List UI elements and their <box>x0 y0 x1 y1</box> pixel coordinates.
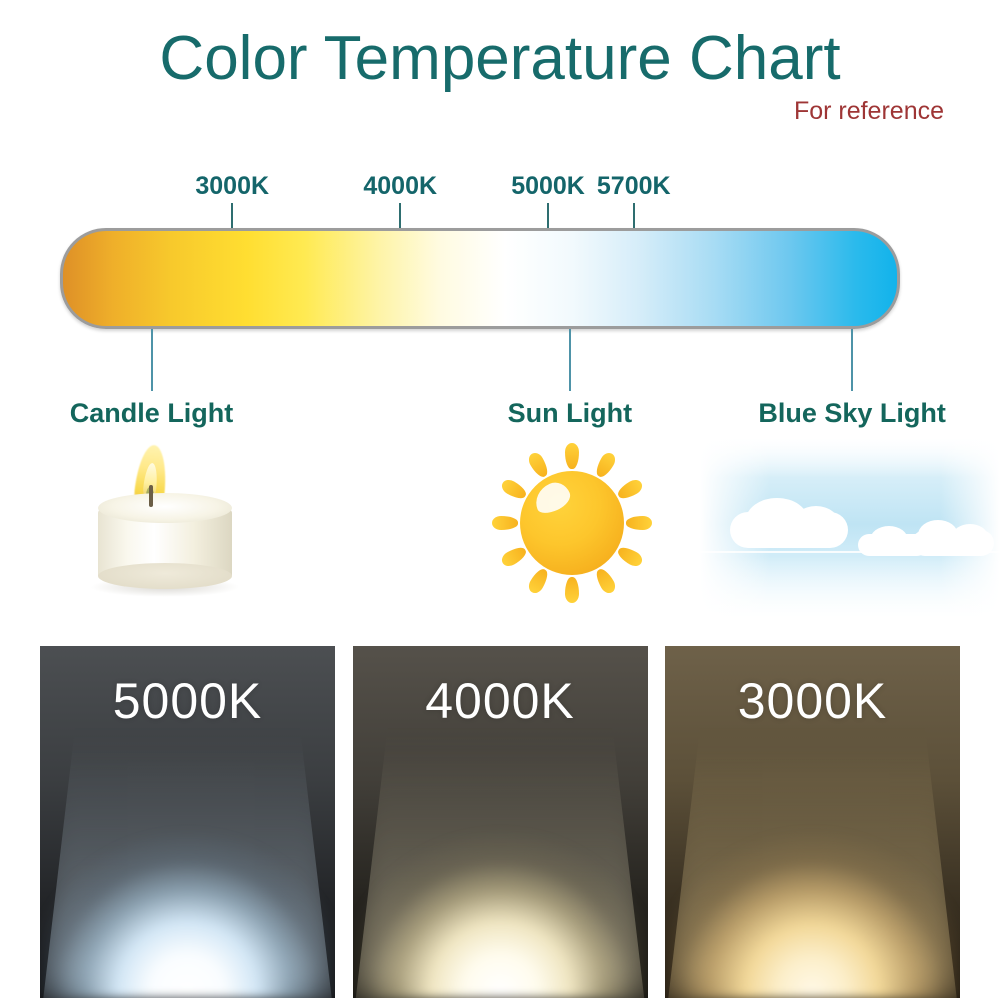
connector-line-candle-light <box>151 329 153 391</box>
sun-ray-11 <box>499 477 529 502</box>
sun-ray-12 <box>526 450 551 480</box>
source-label-blue-sky-light: Blue Sky Light <box>758 398 946 428</box>
kelvin-label-4000: 4000K <box>363 172 437 200</box>
kelvin-label-3000: 3000K <box>195 172 269 200</box>
sky-fade-left <box>700 438 770 618</box>
kelvin-tick-5000 <box>547 203 549 228</box>
sun-ray-3 <box>615 477 645 502</box>
kelvin-tick-4000 <box>399 203 401 228</box>
sample-label-5000: 5000K <box>40 672 335 730</box>
cloud-large-puff-b <box>792 506 840 544</box>
color-temperature-gradient-bar <box>60 228 900 329</box>
sun-ray-2 <box>593 450 618 480</box>
source-label-candle-light: Candle Light <box>70 398 234 428</box>
sun-ray-9 <box>499 544 529 569</box>
candle-wax-top <box>98 493 232 523</box>
cloud-mid-puff <box>870 526 908 554</box>
sample-label-3000: 3000K <box>665 672 960 730</box>
candle-light-illustration <box>80 445 255 605</box>
sun-ray-7 <box>565 577 579 603</box>
subtitle-for-reference: For reference <box>794 96 944 126</box>
connector-line-blue-sky-light <box>851 329 853 391</box>
candle-base <box>98 563 232 589</box>
page-title: Color Temperature Chart <box>0 24 1000 94</box>
candle-wick-top <box>149 485 153 507</box>
blue-sky-illustration <box>700 438 1000 618</box>
color-temperature-infographic: Color Temperature Chart For reference 30… <box>0 0 1000 1000</box>
sample-panel-5000: 5000K <box>40 646 335 998</box>
kelvin-tick-3000 <box>231 203 233 228</box>
sample-panel-4000: 4000K <box>353 646 648 998</box>
kelvin-label-5000: 5000K <box>511 172 585 200</box>
sun-illustration <box>487 438 657 608</box>
sun-ray-1 <box>565 443 579 469</box>
sun-ray-10 <box>492 516 518 530</box>
sun-ray-5 <box>615 544 645 569</box>
kelvin-tick-5700 <box>633 203 635 228</box>
connector-line-sun-light <box>569 329 571 391</box>
sun-ray-6 <box>593 566 618 596</box>
sun-ray-8 <box>526 566 551 596</box>
kelvin-label-5700: 5700K <box>597 172 671 200</box>
sample-panel-3000: 3000K <box>665 646 960 998</box>
sample-photo-panels: 5000K4000K3000K <box>40 646 960 998</box>
sun-ray-4 <box>626 516 652 530</box>
sample-label-4000: 4000K <box>353 672 648 730</box>
source-label-sun-light: Sun Light <box>508 398 632 428</box>
sky-fade-right <box>940 438 1000 618</box>
sun-disc <box>520 471 624 575</box>
